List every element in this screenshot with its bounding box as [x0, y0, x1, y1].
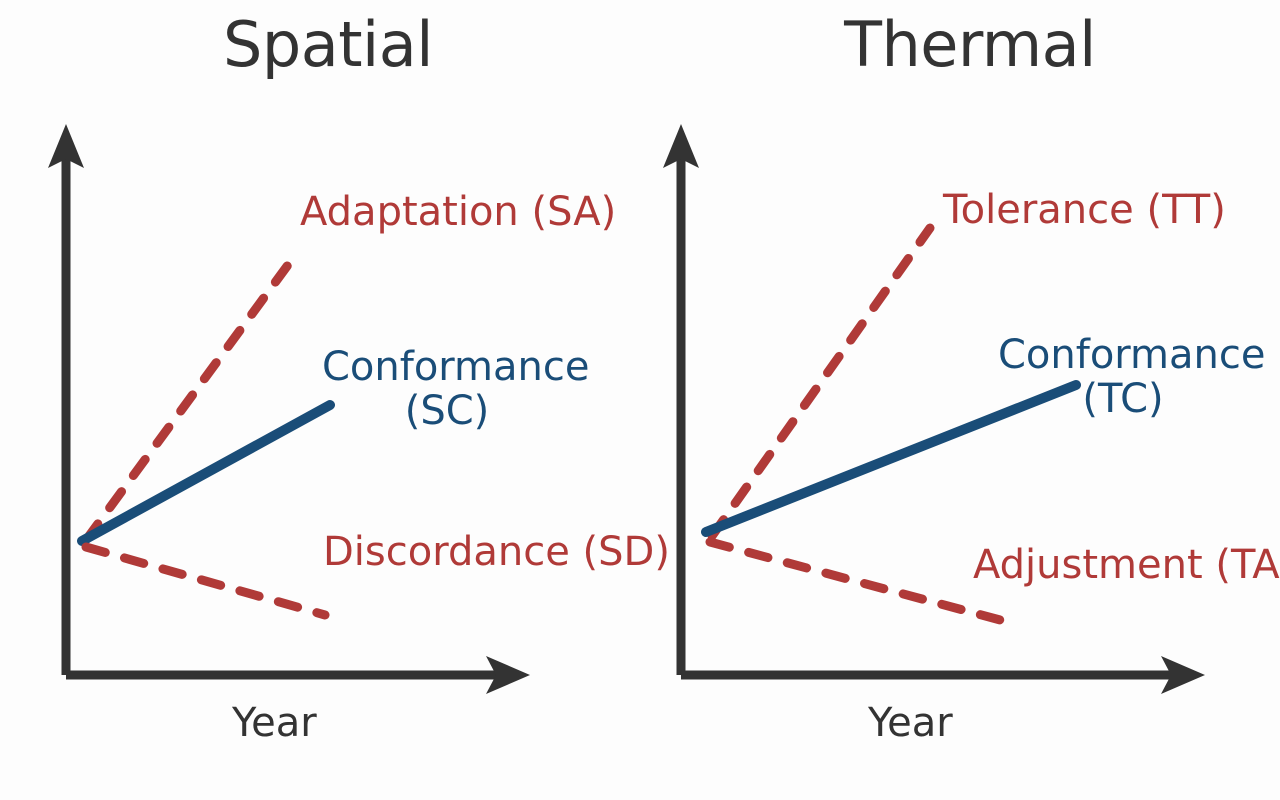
series-line-adaptation-sa — [86, 254, 296, 540]
x-axis-spatial — [66, 656, 530, 694]
series-line-discordance-sd — [86, 547, 325, 615]
x-axis-label-spatial: Year — [232, 700, 317, 746]
series-label-conformance-tc-line2: (TC) — [1082, 376, 1163, 422]
series-label-adjustment-ta: Adjustment (TA) — [973, 543, 1280, 587]
series-label-conformance-tc: Conformance (TC) — [998, 333, 1248, 421]
series-label-conformance-sc-line2: (SC) — [405, 388, 490, 434]
x-axis-label-thermal: Year — [868, 700, 953, 746]
series-label-discordance-sd: Discordance (SD) — [323, 530, 670, 574]
series-label-tolerance-tt: Tolerance (TT) — [943, 188, 1226, 232]
x-axis-thermal — [681, 656, 1205, 694]
series-label-conformance-sc: Conformance (SC) — [322, 345, 572, 433]
series-line-conformance-sc — [82, 405, 330, 541]
panel-spatial: Spatial Adaptation (SA) Conformance (SC) — [0, 0, 640, 800]
series-label-conformance-sc-line1: Conformance — [322, 344, 589, 390]
series-label-adaptation-sa: Adaptation (SA) — [300, 190, 616, 234]
y-axis-thermal — [663, 124, 699, 675]
series-line-adjustment-ta — [710, 542, 1015, 624]
y-axis-spatial — [48, 124, 84, 675]
figure-canvas: Spatial Adaptation (SA) Conformance (SC) — [0, 0, 1280, 800]
panel-thermal: Thermal Tolerance (TT) Conformance (TC) — [640, 0, 1280, 800]
series-label-conformance-tc-line1: Conformance — [998, 332, 1265, 378]
